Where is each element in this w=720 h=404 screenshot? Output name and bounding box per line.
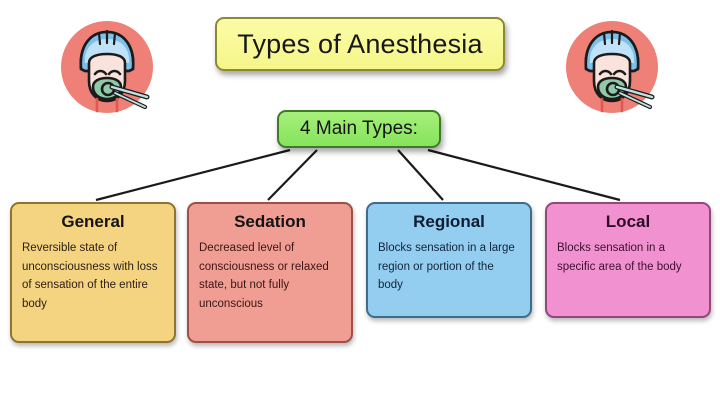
card-general-title: General	[22, 211, 164, 233]
diagram-canvas: Types of Anesthesia 4 Main Types: Genera…	[0, 0, 720, 404]
page-title: Types of Anesthesia	[237, 29, 482, 60]
card-regional-title: Regional	[378, 211, 520, 233]
anesthetized-patient-icon	[59, 19, 155, 115]
card-regional-body: Blocks sensation in a large region or po…	[378, 239, 520, 295]
card-local: Local Blocks sensation in a specific are…	[545, 202, 711, 318]
anesthetized-patient-icon	[564, 19, 660, 115]
card-general-body: Reversible state of unconsciousness with…	[22, 239, 164, 313]
card-regional: Regional Blocks sensation in a large reg…	[366, 202, 532, 318]
card-local-body: Blocks sensation in a specific area of t…	[557, 239, 699, 276]
card-sedation-body: Decreased level of consciousness or rela…	[199, 239, 341, 313]
card-sedation-title: Sedation	[199, 211, 341, 233]
card-local-title: Local	[557, 211, 699, 233]
diagram-title-box: Types of Anesthesia	[215, 17, 505, 71]
connector-to-sedation	[268, 150, 317, 200]
card-general: General Reversible state of unconsciousn…	[10, 202, 176, 343]
connector-to-local	[428, 150, 620, 200]
main-types-label: 4 Main Types:	[300, 118, 418, 140]
card-sedation: Sedation Decreased level of consciousnes…	[187, 202, 353, 343]
main-types-box: 4 Main Types:	[277, 110, 441, 148]
connector-to-general	[96, 150, 290, 200]
connector-to-regional	[398, 150, 443, 200]
